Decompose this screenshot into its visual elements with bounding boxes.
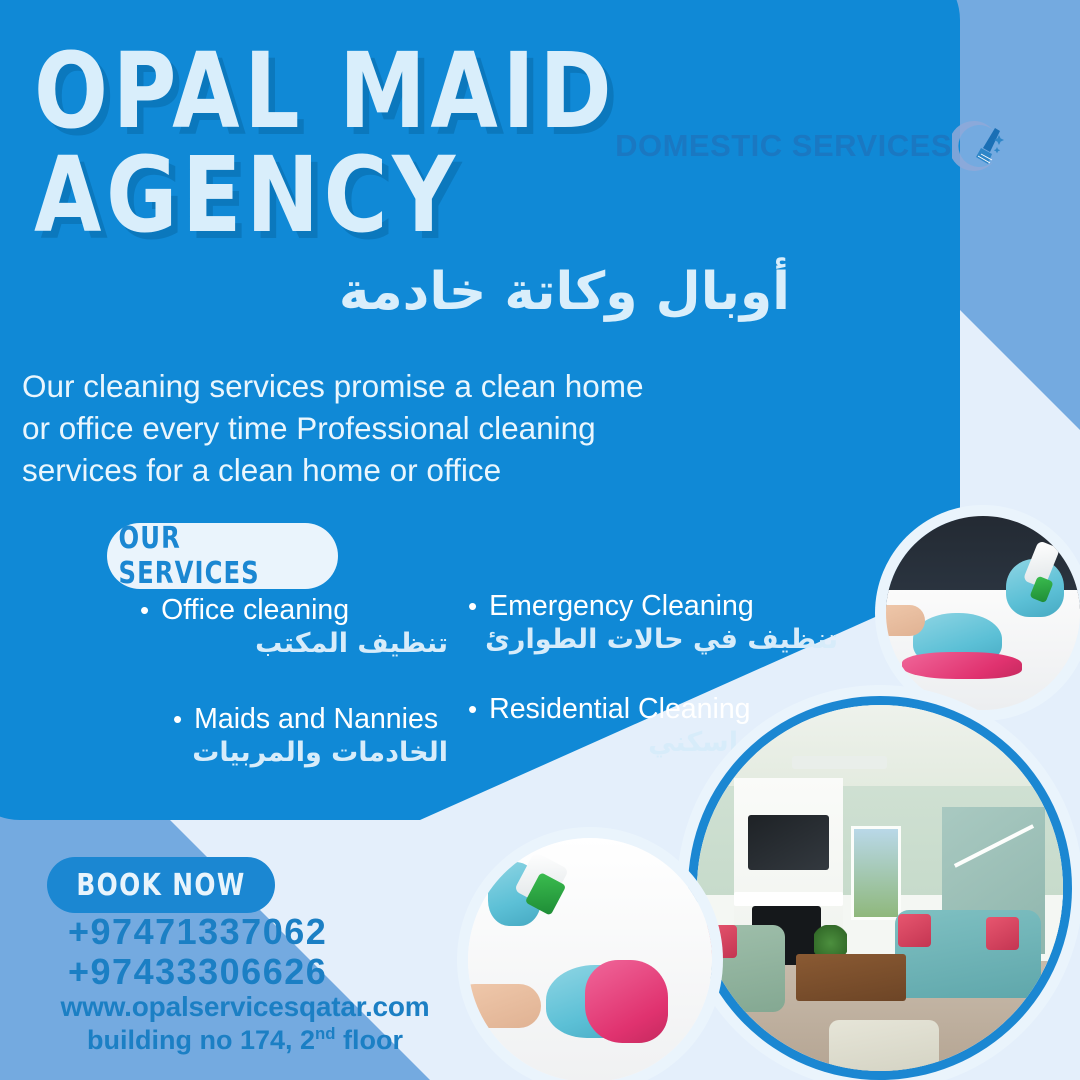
title-line-two: AGENCY xyxy=(34,146,616,246)
brand-title: OPAL MAID AGENCY xyxy=(34,42,660,246)
service-english-row: • Office cleaning xyxy=(118,594,448,627)
street-address: building no 174, 2nd floor xyxy=(0,1024,460,1056)
title-line-one: OPAL MAID xyxy=(34,42,616,142)
description-line-three: services for a clean home or office xyxy=(22,450,752,492)
photo-shape xyxy=(898,914,931,947)
photo-shape xyxy=(585,960,668,1043)
our-services-label: OUR SERVICES xyxy=(119,521,327,591)
logo-text: DOMESTIC SERVICES xyxy=(615,128,952,164)
brand-title-arabic: أوبال وكاتة خادمة xyxy=(0,262,790,322)
description-line-two: or office every time Professional cleani… xyxy=(22,408,752,450)
address-prefix: building no 174, 2 xyxy=(87,1025,315,1055)
photo-shape xyxy=(468,984,541,1028)
photo-shape xyxy=(902,652,1022,679)
photo-shape xyxy=(792,756,887,769)
service-english-row: • Emergency Cleaning xyxy=(468,590,868,623)
website-url[interactable]: www.opalservicesqatar.com xyxy=(0,991,460,1023)
photo-image xyxy=(886,516,1080,710)
description-line-one: Our cleaning services promise a clean ho… xyxy=(22,366,752,408)
service-item: • Office cleaning تنظيف المكتب xyxy=(118,594,448,659)
address-suffix: floor xyxy=(335,1025,403,1055)
service-english-label: Emergency Cleaning xyxy=(489,590,754,623)
photo-shape xyxy=(886,605,925,636)
photo-shape xyxy=(986,917,1019,950)
photo-image xyxy=(468,838,712,1080)
phone-number-secondary[interactable]: +97433306626 xyxy=(0,952,460,992)
service-arabic-label: الخادمات والمربيات xyxy=(118,737,448,768)
bullet-icon: • xyxy=(468,593,477,619)
gloved-hands-wiping-table-photo xyxy=(886,516,1080,710)
contact-block: +97471337062 +97433306626 www.opalservic… xyxy=(0,912,460,1056)
address-ordinal-suffix: nd xyxy=(315,1024,335,1043)
service-arabic-label: تنظيف في حالات الطوارئ xyxy=(468,624,868,655)
photo-shape xyxy=(748,815,829,870)
poster-canvas: OPAL MAID AGENCY أوبال وكاتة خادمة DOMES… xyxy=(0,0,1080,1080)
broom-sparkle-icon xyxy=(952,118,1008,174)
phone-number-primary[interactable]: +97471337062 xyxy=(0,912,460,952)
description-paragraph: Our cleaning services promise a clean ho… xyxy=(22,366,752,492)
photo-shape xyxy=(796,954,906,1002)
bullet-icon: • xyxy=(468,696,477,722)
service-item: • Emergency Cleaning تنظيف في حالات الطو… xyxy=(468,590,868,655)
service-english-row: • Maids and Nannies xyxy=(118,703,448,736)
photo-shape xyxy=(851,826,901,920)
bullet-icon: • xyxy=(140,597,149,623)
service-english-label: Office cleaning xyxy=(161,594,349,627)
logo: DOMESTIC SERVICES xyxy=(615,118,1008,174)
service-arabic-label: تنظيف المكتب xyxy=(118,628,448,659)
book-now-label: BOOK NOW xyxy=(76,868,245,903)
book-now-button[interactable]: BOOK NOW xyxy=(47,857,275,913)
services-column-left: • Office cleaning تنظيف المكتب • Maids a… xyxy=(118,594,448,796)
our-services-badge: OUR SERVICES xyxy=(107,523,338,589)
service-item: • Maids and Nannies الخادمات والمربيات xyxy=(118,703,448,768)
spray-bottle-cleaning-photo xyxy=(468,838,712,1080)
photo-shape xyxy=(829,1020,939,1071)
service-english-label: Maids and Nannies xyxy=(194,703,438,736)
photo-image xyxy=(697,705,1063,1071)
living-room-interior-photo xyxy=(697,705,1063,1071)
photo-shape xyxy=(734,892,844,907)
bullet-icon: • xyxy=(173,706,182,732)
